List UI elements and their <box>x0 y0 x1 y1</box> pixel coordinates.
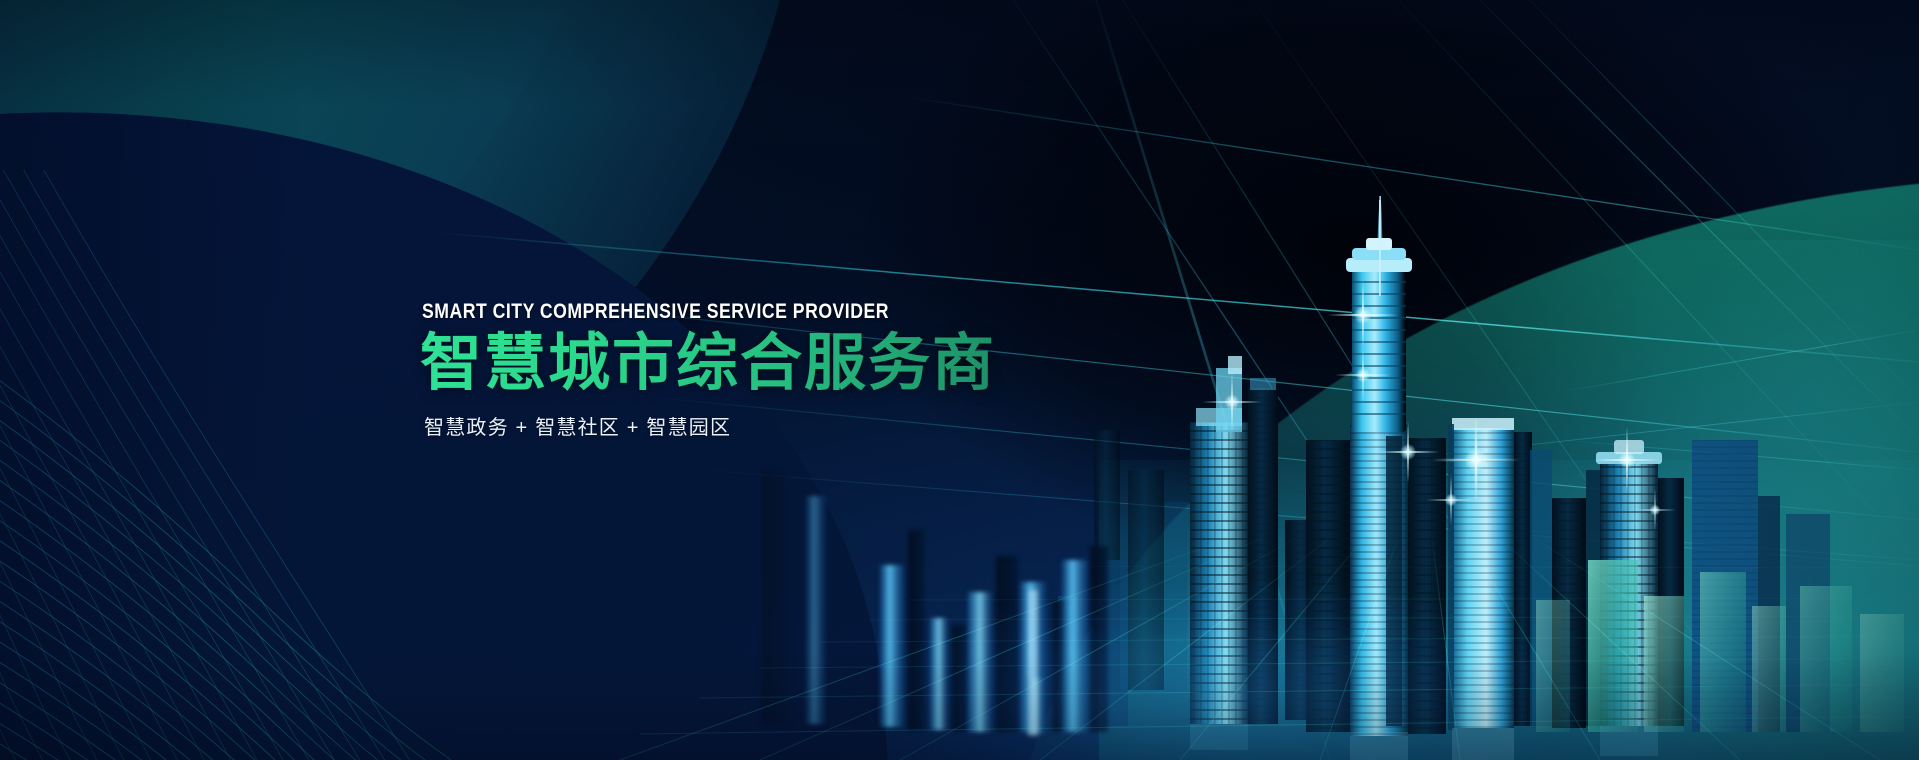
smart-city-hero-banner: SMART CITY COMPREHENSIVE SERVICE PROVIDE… <box>0 0 1919 760</box>
page-title: 智慧城市综合服务商 <box>420 329 1180 398</box>
eyebrow-tagline: SMART CITY COMPREHENSIVE SERVICE PROVIDE… <box>422 300 1059 323</box>
subtitle-services: 智慧政务 + 智慧社区 + 智慧园区 <box>424 411 1180 440</box>
floor-light-glow <box>780 540 1680 760</box>
hero-copy-block: SMART CITY COMPREHENSIVE SERVICE PROVIDE… <box>420 300 1180 440</box>
